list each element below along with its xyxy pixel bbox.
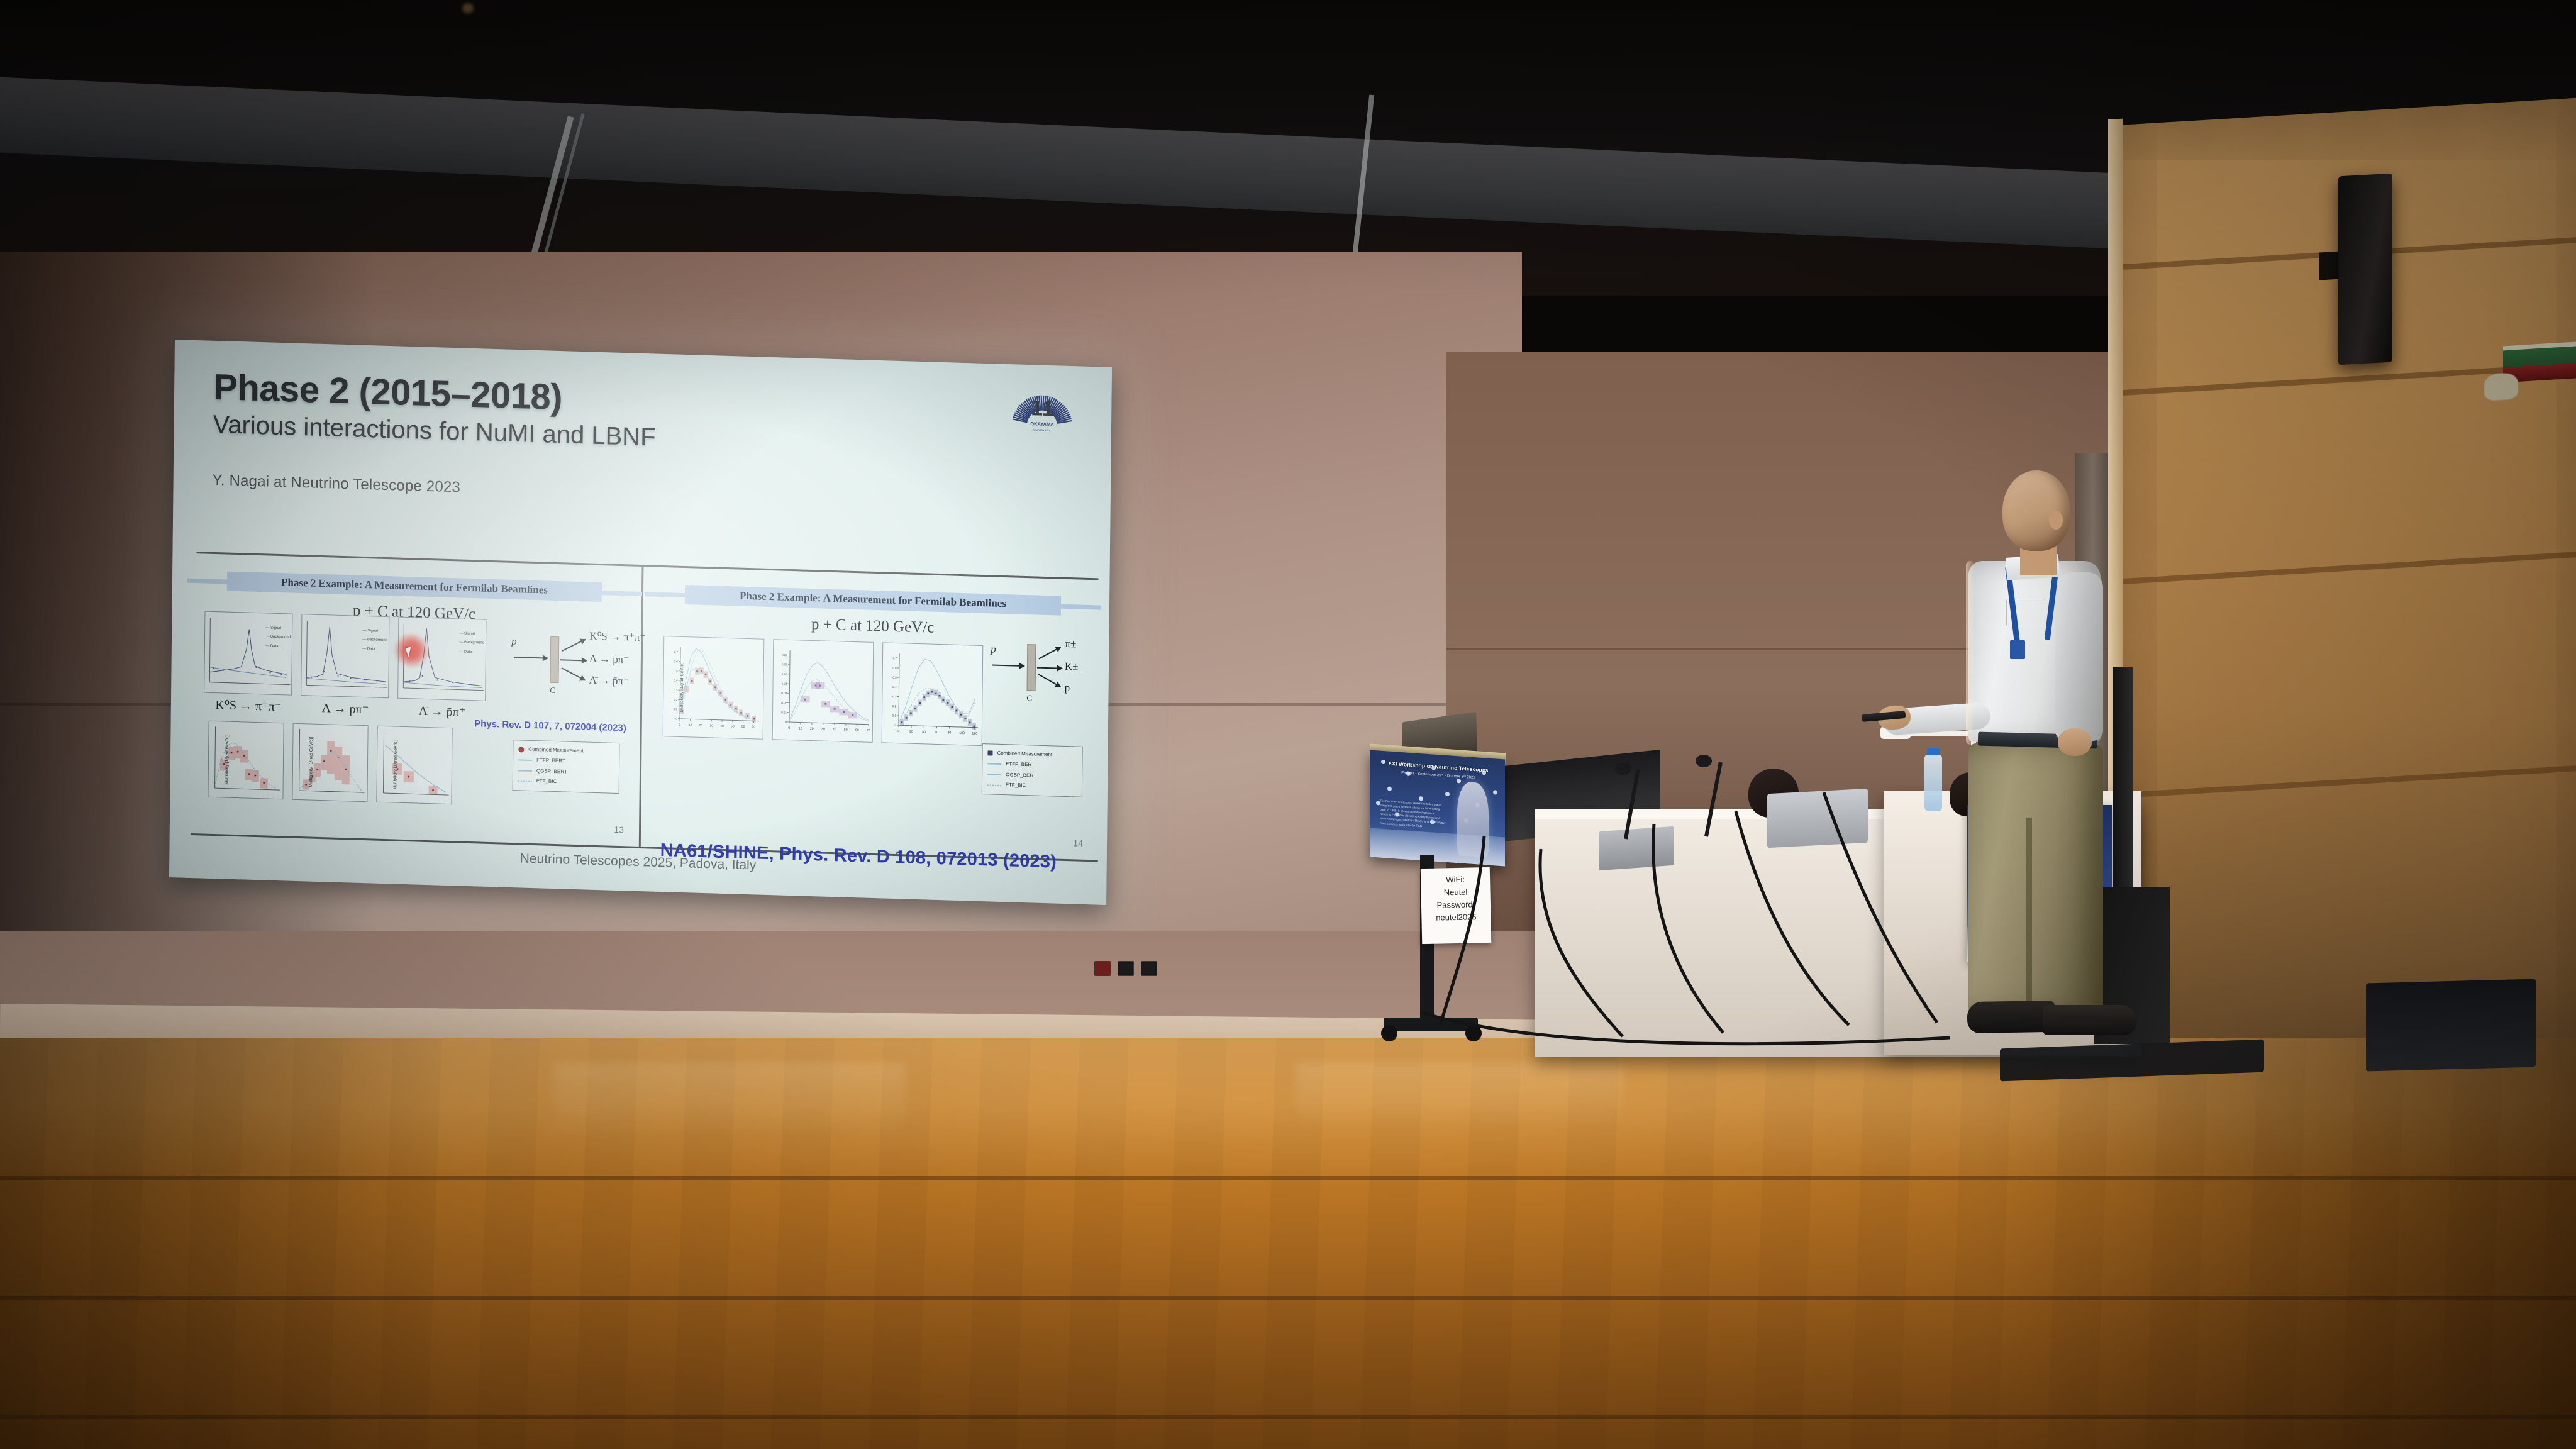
svg-text:0.2: 0.2: [892, 704, 897, 708]
svg-text:0.3: 0.3: [892, 695, 897, 698]
channel-label: Λ̄ → p̄π⁺: [589, 674, 629, 688]
auditorium-photo: Phase 2 (2015–2018) Various interactions…: [0, 0, 2576, 1449]
power-outlet: [1141, 961, 1157, 976]
chart-canvas: 01020304050607000.010.020.030.040.050.06…: [773, 640, 874, 743]
svg-text:0.1: 0.1: [892, 714, 897, 717]
legend-entry: FTF_BIC: [987, 780, 1077, 793]
projection-screen-area: Phase 2 (2015–2018) Various interactions…: [175, 340, 1118, 893]
svg-text:0.01: 0.01: [781, 711, 787, 714]
beam-arrow: [514, 657, 548, 659]
legend-box-left: Combined Measurement FTFP_BERT QGSP_BERT: [513, 740, 620, 794]
decay-label: K⁰S → π⁺π⁻: [201, 696, 296, 714]
multiplicity-plot-row-right: π⁺ Multiplicity, [0.005,0.01] rad Multip…: [663, 636, 984, 746]
peak-plot-row-left: m_{π⁺π⁻} fit, [12.0,16.0] GeV/c in [0,20…: [204, 611, 486, 701]
svg-text:10: 10: [799, 726, 802, 730]
legend-entry: FTF_BIC: [518, 776, 614, 789]
multiplicity-plot-row-left: K⁰S Multiplicity, [0,0.02] rad Multiplic…: [208, 721, 452, 804]
svg-text:70: 70: [752, 725, 755, 729]
channel-arrow: [1037, 667, 1062, 669]
speaker-leg-seam: [2026, 818, 2032, 1014]
floor-reflection: [553, 1063, 906, 1138]
channel-label: K±: [1065, 660, 1079, 674]
cable-bundle: [1384, 836, 2012, 1088]
interaction-diagram-left: p C K⁰S → π⁺π⁻ Λ → pπ⁻ Λ̄ → p̄π⁺: [509, 629, 630, 714]
citation-left: Phys. Rev. D 107, 7, 072004 (2023): [474, 718, 626, 733]
multiplicity-plot: Λ Multiplicity, [0,0.02] rad Multiplicit…: [292, 723, 368, 802]
channel-label: K⁰S → π⁺π⁻: [589, 630, 645, 645]
svg-text:70: 70: [867, 729, 870, 733]
slide-attribution: Y. Nagai at Neutrino Telescope 2023: [213, 472, 1078, 515]
floor-speaker: [2366, 979, 2536, 1071]
legend-label: FTFP_BERT: [536, 755, 565, 767]
sub-banner-left: Phase 2 Example: A Measurement for Fermi…: [226, 572, 602, 602]
svg-text:50: 50: [731, 724, 735, 728]
svg-text:0.03: 0.03: [781, 692, 787, 695]
svg-text:0.02: 0.02: [781, 701, 787, 704]
microphone-head-icon: [1696, 755, 1712, 767]
svg-text:0.5: 0.5: [892, 676, 897, 679]
power-outlet: [1094, 961, 1111, 976]
svg-text:30: 30: [821, 728, 825, 731]
legend-line-icon: [518, 760, 532, 762]
svg-text:0.4: 0.4: [892, 686, 897, 689]
wall-speaker: [2338, 174, 2392, 365]
svg-text:0: 0: [679, 723, 680, 727]
svg-text:20: 20: [810, 727, 814, 731]
target-label: C: [550, 686, 555, 696]
sub-heading-right-text: p + C at 120 GeV/c: [811, 616, 935, 636]
chart-canvas: 01020304050607000.10.20.30.40.50.60.7: [663, 636, 765, 740]
legend-data: — Data: [362, 645, 387, 655]
floor-shadow-right: [1981, 1038, 2576, 1449]
svg-text:0: 0: [788, 726, 790, 730]
svg-text:0.4: 0.4: [674, 679, 678, 682]
poster-body: The Neutrino Telescopes Workshop takes p…: [1380, 799, 1446, 830]
power-outlet: [1118, 961, 1134, 976]
channel-label: π±: [1065, 638, 1076, 651]
speaker-legs: [1968, 743, 2103, 1014]
peak-plot: m_{pπ⁻} fit, [14.0,16.0] GeV/c in [0,20]…: [301, 614, 389, 698]
svg-text:0.7: 0.7: [674, 650, 679, 653]
sub-banner-right: Phase 2 Example: A Measurement for Fermi…: [685, 585, 1062, 616]
ceiling-light: [462, 3, 474, 13]
legend-label: FTF_BIC: [1006, 780, 1026, 792]
svg-text:10: 10: [689, 723, 692, 727]
interaction-diagram-right: p C π± K± p: [989, 634, 1090, 719]
target-label: C: [1026, 693, 1032, 703]
svg-text:0.1: 0.1: [674, 708, 678, 711]
wall-outlets: [1094, 961, 1157, 976]
microphone-head-icon: [1615, 762, 1631, 775]
chart-canvas: 02040608010012000.10.20.30.40.50.60.7: [882, 643, 984, 746]
svg-text:40: 40: [833, 728, 836, 731]
legend-box-right: Combined Measurement FTFP_BERT QGSP_BERT: [982, 743, 1083, 797]
beam-arrow: [992, 664, 1024, 667]
legend-dashed-icon: [987, 784, 1001, 786]
channel-arrow: [560, 659, 587, 661]
wall-fixture: [2484, 372, 2518, 401]
channel-arrow: [562, 639, 586, 652]
svg-text:0: 0: [785, 721, 787, 724]
legend-label: QGSP_BERT: [536, 766, 567, 777]
svg-text:0.05: 0.05: [782, 672, 787, 675]
svg-text:UNIVERSITY: UNIVERSITY: [1033, 428, 1050, 432]
multiplicity-plot: K⁰S Multiplicity, [0,0.02] rad Multiplic…: [208, 721, 284, 800]
svg-text:20: 20: [699, 724, 702, 728]
okayama-university-logo: 11 OKAYAMA UNIVERSITY: [1009, 386, 1075, 458]
chart-pi-multiplicity: π⁺ Multiplicity, [0.005,0.01] rad Multip…: [663, 636, 765, 740]
legend-marker-icon: [518, 747, 524, 752]
legend-signal: — Signal: [265, 623, 291, 633]
svg-text:0.2: 0.2: [674, 698, 678, 701]
speaker-rim-light: [1966, 561, 1975, 745]
presentation-slide: Phase 2 (2015–2018) Various interactions…: [169, 340, 1112, 905]
svg-text:0.6: 0.6: [674, 660, 678, 663]
svg-text:0: 0: [897, 730, 899, 733]
svg-text:0.5: 0.5: [674, 669, 678, 672]
channel-arrow: [1038, 674, 1061, 687]
embedded-slide-left: Phase 2 Example: A Measurement for Fermi…: [194, 562, 633, 838]
legend-background: — Background: [459, 638, 484, 648]
legend-line-icon: [987, 774, 1001, 775]
decay-label: Λ → pπ⁻: [298, 699, 392, 718]
mult-plot-ylabel: Multiplicity [1/(rad GeV/c)]: [225, 734, 230, 784]
svg-text:120: 120: [972, 732, 977, 736]
svg-text:0.6: 0.6: [892, 666, 897, 669]
speaker-hand-back: [2058, 728, 2092, 756]
beam-label: p: [991, 643, 996, 655]
speaker-arm-back: [2055, 572, 2103, 741]
projection-screen: Phase 2 (2015–2018) Various interactions…: [169, 340, 1112, 905]
svg-text:11: 11: [1031, 396, 1053, 421]
svg-text:60: 60: [855, 728, 859, 732]
carbon-target: [1027, 644, 1036, 691]
legend-signal: — Signal: [362, 626, 387, 636]
svg-text:30: 30: [709, 724, 713, 728]
carbon-target: [550, 636, 559, 683]
channel-arrow: [1038, 647, 1061, 660]
legend-line-icon: [987, 763, 1001, 765]
svg-text:OKAYAMA: OKAYAMA: [1030, 421, 1054, 427]
legend-data: — Data: [265, 641, 291, 652]
chart-ylabel: Multiplicity [1/(rad GeV/c)]: [680, 662, 685, 712]
conference-badge: [2010, 640, 2025, 659]
speaker-head: [2002, 470, 2070, 551]
multiplicity-plot: Λ̄ Multiplicity, [0,0.04] rad Multiplici…: [376, 726, 452, 805]
sub-page-number-right: 14: [1073, 838, 1083, 848]
svg-text:0.04: 0.04: [782, 682, 787, 686]
speaker-ear: [2049, 511, 2063, 530]
channel-label: Λ → pπ⁻: [589, 653, 630, 667]
svg-text:40: 40: [720, 724, 724, 728]
peak-plot: m_{π⁺π⁻} fit, [12.0,16.0] GeV/c in [0,20…: [204, 611, 292, 696]
legend-background: — Background: [362, 635, 387, 645]
channel-label: p: [1065, 682, 1070, 694]
chart-p-multiplicity: p Multiplicity, [0.005,0.01] rad p [GeV/…: [882, 642, 984, 746]
chart-k-multiplicity: K⁺ Multiplicity, [0.005,0.01] rad p [GeV…: [772, 639, 874, 743]
sub-page-number-left: 13: [614, 824, 624, 835]
svg-text:20: 20: [909, 730, 913, 734]
mult-plot-ylabel: Multiplicity [1/(rad GeV/c)]: [309, 736, 314, 787]
svg-text:40: 40: [922, 730, 926, 734]
svg-text:60: 60: [741, 725, 745, 729]
svg-text:0.07: 0.07: [782, 653, 787, 657]
svg-text:0.06: 0.06: [782, 663, 787, 666]
legend-label: FTF_BIC: [536, 777, 557, 788]
svg-text:0.3: 0.3: [674, 689, 678, 692]
svg-text:0.7: 0.7: [893, 657, 897, 660]
embedded-slide-right: Phase 2 Example: A Measurement for Fermi…: [652, 575, 1092, 853]
svg-text:60: 60: [935, 731, 938, 735]
svg-text:50: 50: [844, 728, 848, 732]
speaker-shoe: [2043, 1005, 2137, 1035]
panel-divider: [639, 567, 644, 847]
svg-text:0: 0: [675, 717, 677, 720]
legend-line-icon: [518, 770, 532, 772]
legend-dashed-icon: [518, 780, 532, 782]
water-bottle: [1924, 755, 1942, 811]
svg-text:0: 0: [894, 724, 896, 727]
legend-data: — Data: [459, 647, 484, 657]
legend-signal: — Signal: [459, 629, 484, 639]
svg-text:100: 100: [959, 731, 965, 735]
channel-arrow: [561, 667, 585, 680]
floor-shadow-left: [0, 1038, 440, 1449]
beam-label: p: [511, 635, 517, 648]
mult-plot-ylabel: Multiplicity [1/(rad GeV/c)]: [393, 739, 398, 789]
legend-background: — Background: [265, 633, 291, 643]
svg-text:80: 80: [948, 731, 952, 735]
legend-label: QGSP_BERT: [1006, 770, 1036, 781]
legend-marker-icon: [987, 751, 992, 756]
legend-label: FTFP_BERT: [1006, 759, 1035, 770]
